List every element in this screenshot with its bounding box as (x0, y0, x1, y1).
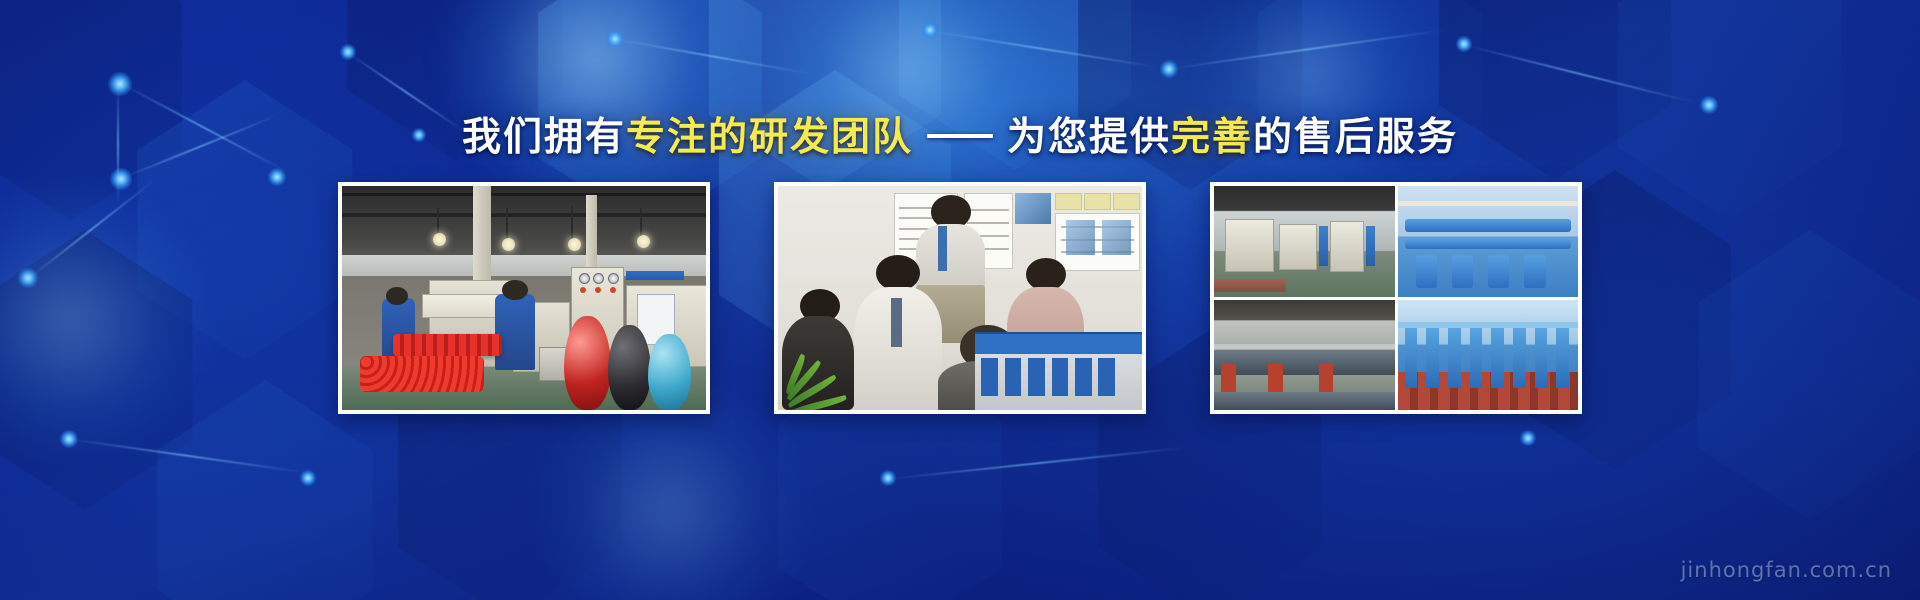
headline-segment-3: 为您提供 (1007, 116, 1171, 159)
photo-team-meeting-image (778, 186, 1142, 410)
collage-cell-workshop (1214, 186, 1395, 297)
headline-separator-dash (927, 134, 993, 138)
headline-highlight-1: 专注的研发团队 (626, 116, 913, 159)
headline-highlight-2: 完善 (1171, 116, 1253, 159)
site-watermark: jinhongfan.com.cn (1681, 558, 1892, 582)
headline-segment-1: 我们拥有 (462, 116, 626, 159)
photo-team-meeting[interactable] (774, 182, 1146, 414)
plant-decoration (778, 343, 865, 410)
photo-production-line[interactable] (338, 182, 710, 414)
headline-segment-5: 的售后服务 (1253, 116, 1458, 159)
photo-equipment-collage-image (1214, 186, 1578, 410)
collage-cell-conveyor (1214, 300, 1395, 411)
promo-banner: 我们拥有专注的研发团队为您提供完善的售后服务 (0, 0, 1920, 600)
collage-cell-blue-pipes (1398, 186, 1579, 297)
photo-equipment-collage[interactable] (1210, 182, 1582, 414)
photo-gallery (0, 182, 1920, 414)
photo-production-line-image (342, 186, 706, 410)
collage-cell-plating-line (1398, 300, 1579, 411)
page-title: 我们拥有专注的研发团队为您提供完善的售后服务 (0, 106, 1920, 162)
